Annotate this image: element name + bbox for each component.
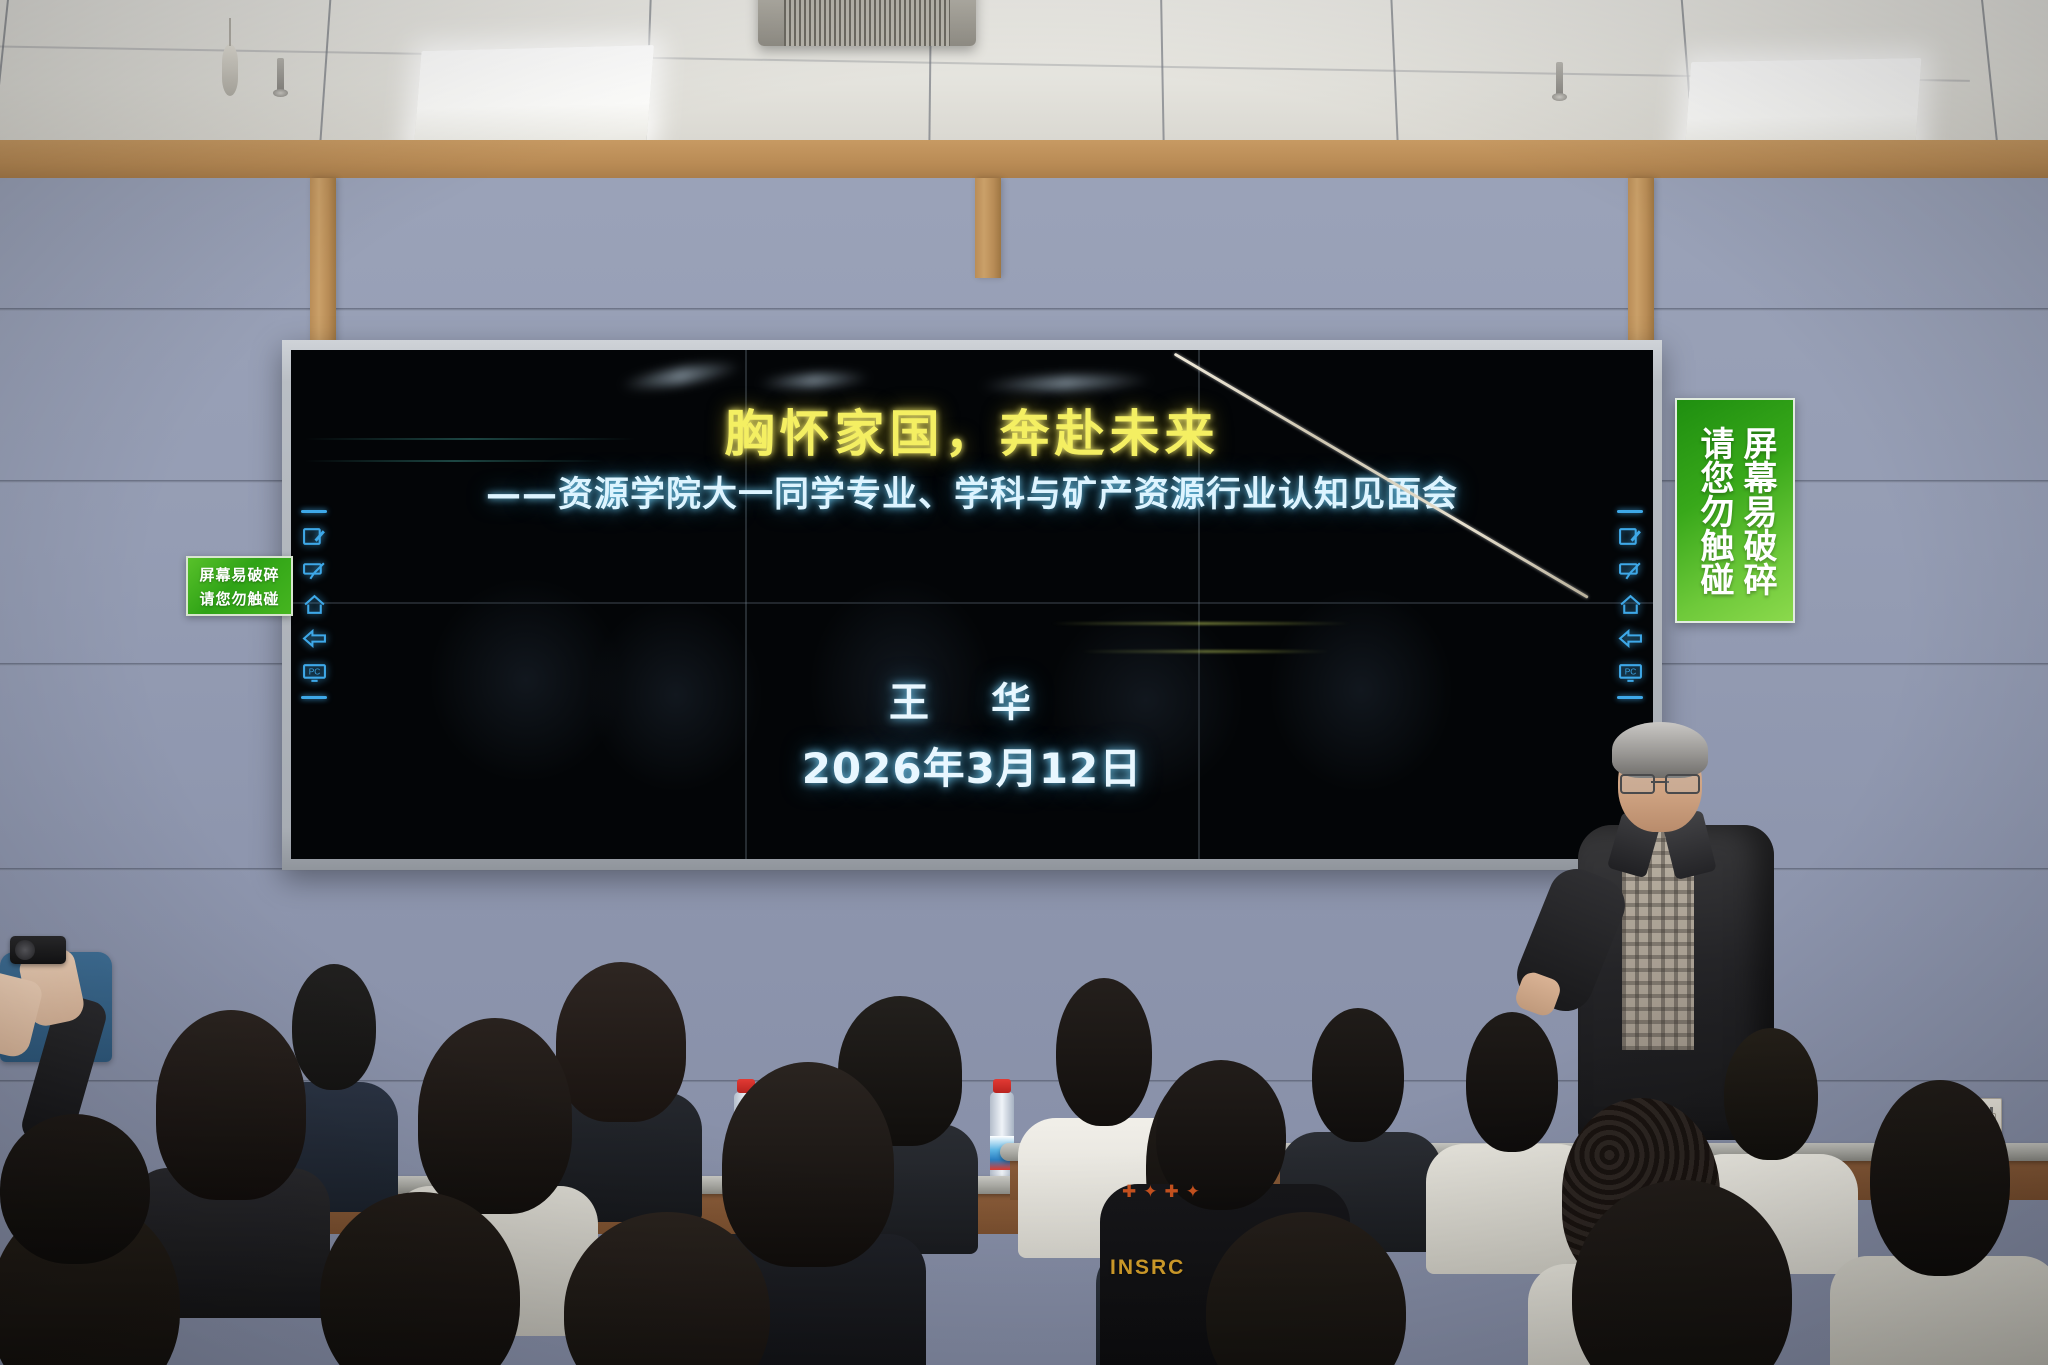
warning-sign-left: 屏幕易破碎 请您勿触碰: [186, 556, 293, 616]
whiteboard-icon[interactable]: [1618, 560, 1643, 581]
ceiling-light-panel-left: [414, 45, 654, 147]
pc-source-icon[interactable]: PC: [1618, 662, 1643, 683]
presenter-glasses: [1620, 774, 1700, 790]
pc-source-icon[interactable]: PC: [302, 662, 327, 683]
home-icon[interactable]: [302, 594, 327, 615]
slide-subtitle: ——资源学院大一同学专业、学科与矿产资源行业认知见面会: [291, 466, 1653, 517]
warning-sign-right: 屏幕易破碎 请您勿触碰: [1675, 398, 1795, 623]
screen-toolbar-left[interactable]: PC: [297, 502, 331, 707]
audience-member: [1552, 1180, 1822, 1365]
home-icon[interactable]: [1618, 594, 1643, 615]
ceiling: [0, 0, 2048, 152]
presenter-hair: [1612, 722, 1708, 778]
warning-sign-left-line2: 请您勿触碰: [199, 588, 279, 609]
whiteboard-icon[interactable]: [302, 560, 327, 581]
screen-toolbar-right[interactable]: PC: [1613, 502, 1647, 707]
svg-text:PC: PC: [308, 667, 320, 677]
audience-member: [1830, 1080, 2048, 1365]
audience-member: [548, 1212, 798, 1365]
hoodie-logo-text: INSRC: [1110, 1256, 1185, 1280]
audience-member-photographer: [0, 900, 170, 1200]
hanging-sensor: [222, 44, 238, 96]
annotate-icon[interactable]: [1618, 526, 1643, 547]
wall-column-mid: [975, 178, 1001, 278]
warning-sign-right-col1: 屏幕易破碎: [1739, 426, 1774, 596]
audience-member: [300, 1192, 550, 1365]
annotate-icon[interactable]: [302, 526, 327, 547]
back-arrow-icon[interactable]: [1618, 628, 1643, 649]
warning-sign-right-col1-text: 屏幕易破碎: [1739, 426, 1774, 596]
air-conditioner-vent: [758, 0, 976, 46]
screen-surface[interactable]: 胸怀家国，奔赴未来 ——资源学院大一同学专业、学科与矿产资源行业认知见面会 王 …: [291, 350, 1653, 859]
toolbar-divider-bottom-right: [1617, 696, 1643, 699]
toolbar-divider-top: [301, 510, 327, 513]
toolbar-divider-bottom: [301, 696, 327, 699]
smartphone[interactable]: [10, 936, 66, 964]
slide-presenter: 王 华: [291, 670, 1653, 728]
lecture-hall-photo: 胸怀家国，奔赴未来 ——资源学院大一同学专业、学科与矿产资源行业认知见面会 王 …: [0, 0, 2048, 1365]
slide-date: 2026年3月12日: [291, 735, 1653, 796]
ceiling-light-panel-right: [1685, 58, 1922, 152]
slide-title: 胸怀家国，奔赴未来: [291, 394, 1653, 466]
back-arrow-icon[interactable]: [302, 628, 327, 649]
sprinkler-head-left: [277, 58, 284, 92]
warning-sign-right-col2: 请您勿触碰: [1696, 426, 1731, 596]
warning-sign-right-col2-text: 请您勿触碰: [1696, 426, 1731, 596]
sprinkler-head-right: [1556, 62, 1563, 96]
video-wall-display[interactable]: 胸怀家国，奔赴未来 ——资源学院大一同学专业、学科与矿产资源行业认知见面会 王 …: [282, 340, 1662, 870]
wall-top-beam: [0, 140, 2048, 180]
hoodie-decoration: ✚✦✚✦: [1122, 1182, 1207, 1202]
warning-sign-left-line1: 屏幕易破碎: [199, 564, 279, 585]
audience-member: [1190, 1212, 1430, 1365]
svg-text:PC: PC: [1624, 667, 1636, 677]
toolbar-divider-top-right: [1617, 510, 1643, 513]
presentation-slide: 胸怀家国，奔赴未来 ——资源学院大一同学专业、学科与矿产资源行业认知见面会 王 …: [291, 350, 1653, 859]
